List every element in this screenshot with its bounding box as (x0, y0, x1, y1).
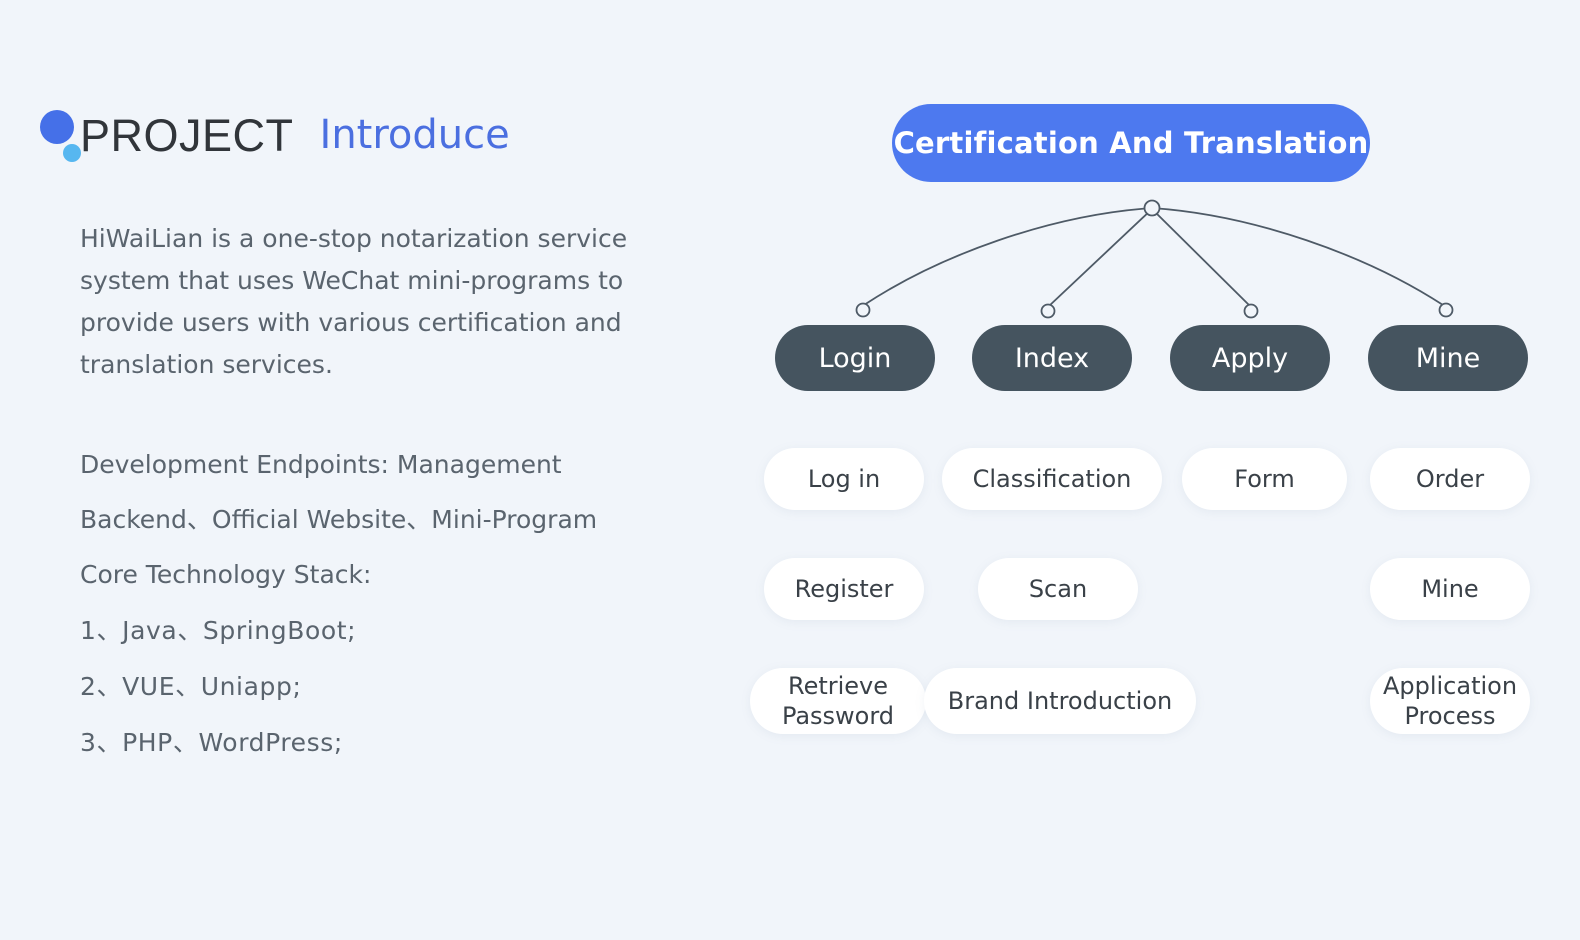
leaf-node-form[interactable]: Form (1182, 448, 1347, 510)
leaf-node-application-process[interactable]: Application Process (1370, 668, 1530, 734)
intro-description: HiWaiLian is a one-stop notarization ser… (80, 218, 680, 386)
leaf-node-log-in[interactable]: Log in (764, 448, 924, 510)
intro-panel: PROJECT Introduce HiWaiLian is a one-sto… (0, 0, 720, 940)
leaf-node-order[interactable]: Order (1370, 448, 1530, 510)
tech-stack-block: Development Endpoints: Management Backen… (80, 437, 700, 771)
leaf-node-mine[interactable]: Mine (1370, 558, 1530, 620)
core-tech-stack-heading: Core Technology Stack: (80, 547, 700, 603)
connector-hub-login-icon (857, 304, 870, 317)
leaf-node-scan[interactable]: Scan (978, 558, 1138, 620)
page-title: PROJECT (80, 113, 294, 158)
logo-dots (38, 102, 88, 168)
tech-stack-item: 1、Java、SpringBoot; (80, 603, 700, 659)
leaf-node-register[interactable]: Register (764, 558, 924, 620)
development-endpoints-line: Development Endpoints: Management Backen… (80, 437, 700, 547)
connector-edge-mine (1152, 208, 1443, 305)
connector-hub-index-icon (1042, 305, 1055, 318)
tech-stack-item: 3、PHP、WordPress; (80, 715, 700, 771)
logo-small-dot-icon (63, 144, 81, 162)
connector-edge-index (1049, 209, 1152, 306)
leaf-node-brand-introduction[interactable]: Brand Introduction (924, 668, 1196, 734)
connector-hub-mine-icon (1440, 304, 1453, 317)
connector-hub-apply-icon (1245, 305, 1258, 318)
diagram-root-node[interactable]: Certification And Translation (892, 104, 1370, 182)
tech-stack-item: 2、VUE、Uniapp; (80, 659, 700, 715)
leaf-node-retrieve-password[interactable]: Retrieve Password (750, 668, 926, 734)
page-subtitle: Introduce (320, 115, 510, 155)
connector-edge-apply (1152, 209, 1250, 306)
leaf-node-classification[interactable]: Classification (942, 448, 1162, 510)
branch-node-index[interactable]: Index (972, 325, 1132, 391)
connector-hub-root-icon (1145, 201, 1160, 216)
brand-header: PROJECT Introduce (38, 100, 510, 170)
branch-node-apply[interactable]: Apply (1170, 325, 1330, 391)
branch-node-login[interactable]: Login (775, 325, 935, 391)
branch-node-mine[interactable]: Mine (1368, 325, 1528, 391)
sitemap-diagram: Certification And Translation Login Inde… (720, 0, 1580, 940)
logo-large-dot-icon (40, 110, 74, 144)
connector-edge-login (864, 208, 1152, 305)
